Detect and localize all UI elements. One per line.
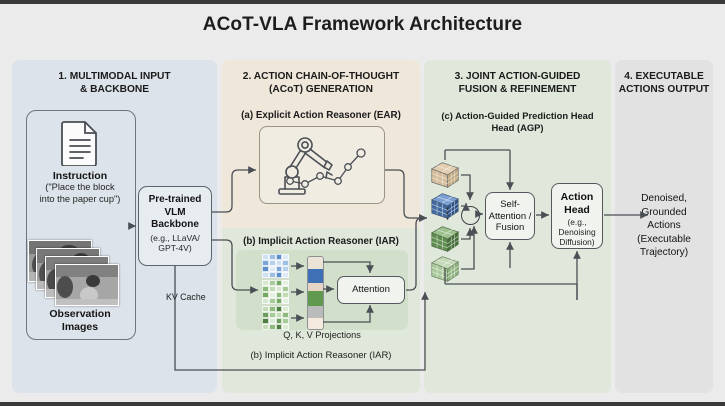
- grid-cell: [262, 272, 269, 278]
- observation-label-line2: Images: [62, 321, 98, 333]
- column-heading-4: 4. EXECUTABLE ACTIONS OUTPUT: [615, 70, 713, 96]
- action-head-title: Action Head: [552, 191, 602, 216]
- grid-cell: [262, 298, 269, 304]
- action-head-sub-line2: Denoising: [558, 227, 595, 237]
- grid-cell: [276, 298, 283, 304]
- vlm-sub-line1: (e.g., LLaVA/: [150, 233, 200, 243]
- vlm-backbone-subtitle: (e.g., LLaVA/ GPT-4V): [139, 233, 211, 254]
- column-heading-2-line1: 2. ACTION CHAIN-OF-THOUGHT: [243, 71, 399, 82]
- column-heading-1: 1. MULTIMODAL INPUT & BACKBONE: [12, 70, 217, 96]
- action-head-sub-line3: Diffusion): [559, 237, 594, 247]
- iar-grid-q: [262, 254, 289, 278]
- observation-images-label: Observation Images: [26, 308, 134, 334]
- output-line2: Grounded: [641, 207, 686, 218]
- bottom-border-bar: [0, 402, 725, 406]
- grid-cell: [269, 298, 276, 304]
- kv-cache-label: KV Cache: [166, 292, 206, 302]
- top-border-bar: [0, 0, 725, 4]
- feature-cube-light-green: [430, 254, 460, 284]
- instruction-label: Instruction: [26, 170, 134, 182]
- column-heading-3-line1: 3. JOINT ACTION-GUIDED: [455, 71, 581, 82]
- agp-label-line1: (c) Action-Guided Prediction Head: [441, 110, 593, 121]
- action-head-subtitle: (e.g., Denoising Diffusion): [552, 217, 602, 247]
- fusion-line2: Attention /: [489, 211, 532, 222]
- instruction-text: ("Place the block into the paper cup"): [22, 182, 138, 205]
- column-heading-2-line2: (ACoT) GENERATION: [269, 84, 373, 95]
- grid-cell: [269, 272, 276, 278]
- plus-circle-icon: [461, 206, 480, 225]
- fusion-line1: Self-: [500, 199, 520, 210]
- ear-section-label: (a) Explicit Action Reasoner (EAR): [222, 110, 420, 121]
- output-line5: Trajectory): [640, 247, 688, 258]
- vlm-sub-line2: GPT-4V): [158, 243, 191, 253]
- page-title: ACoT-VLA Framework Architecture: [0, 14, 725, 36]
- output-line4: (Executable: [637, 234, 691, 245]
- output-description: Denoised, Grounded Actions (Executable T…: [615, 192, 713, 260]
- output-line3: Actions: [647, 220, 680, 231]
- action-head-box[interactable]: Action Head (e.g., Denoising Diffusion): [551, 183, 603, 249]
- vlm-title-line3: Backbone: [151, 219, 199, 230]
- observation-image: [55, 264, 119, 306]
- column-heading-1-line2: & BACKBONE: [80, 84, 149, 95]
- agp-label-line2: Head (AGP): [491, 122, 543, 133]
- grid-cell: [282, 272, 289, 278]
- cube-stack-ellipsis: ⋮: [440, 206, 450, 221]
- feature-cube-green: [430, 224, 460, 254]
- ear-illustration-box: [259, 126, 385, 204]
- iar-section-label-duplicate: (b) Implicit Action Reasoner (IAR): [222, 350, 420, 361]
- iar-grid-v: [262, 306, 289, 330]
- column-heading-3: 3. JOINT ACTION-GUIDED FUSION & REFINEME…: [424, 70, 611, 96]
- grid-cell: [276, 272, 283, 278]
- column-heading-4-line1: 4. EXECUTABLE: [624, 71, 704, 82]
- action-head-line2: Head: [564, 204, 590, 216]
- vlm-backbone-title: Pre-trained VLM Backbone: [139, 194, 211, 232]
- grid-cell: [282, 298, 289, 304]
- document-icon: [61, 120, 99, 166]
- attention-box[interactable]: Attention: [337, 276, 405, 304]
- instruction-text-line1: ("Place the block: [45, 182, 114, 192]
- qkv-projection-bar: [307, 256, 324, 330]
- observation-label-line1: Observation: [49, 308, 110, 320]
- qkv-projections-label: Q, K, V Projections: [236, 330, 408, 340]
- instruction-text-line2: into the paper cup"): [40, 194, 121, 204]
- vlm-title-line1: Pre-trained: [149, 194, 202, 205]
- column-heading-1-line1: 1. MULTIMODAL INPUT: [58, 71, 170, 82]
- column-heading-2: 2. ACTION CHAIN-OF-THOUGHT (ACoT) GENERA…: [222, 70, 420, 96]
- vlm-title-line2: VLM: [164, 207, 185, 218]
- iar-grid-k: [262, 280, 289, 304]
- vlm-backbone-box[interactable]: Pre-trained VLM Backbone (e.g., LLaVA/ G…: [138, 186, 212, 266]
- self-attention-fusion-box[interactable]: Self- Attention / Fusion: [485, 192, 535, 240]
- column-heading-3-line2: FUSION & REFINEMENT: [459, 84, 577, 95]
- fusion-line3: Fusion: [496, 222, 525, 233]
- action-head-sub-line1: (e.g.,: [567, 217, 586, 227]
- iar-section-label: (b) Implicit Action Reasoner (IAR): [222, 236, 420, 247]
- column-heading-4-line2: ACTIONS OUTPUT: [619, 84, 710, 95]
- output-line1: Denoised,: [641, 193, 687, 204]
- agp-section-label: (c) Action-Guided Prediction Head Head (…: [424, 110, 611, 134]
- feature-cube-tan: [430, 160, 460, 190]
- action-head-line1: Action: [561, 191, 594, 203]
